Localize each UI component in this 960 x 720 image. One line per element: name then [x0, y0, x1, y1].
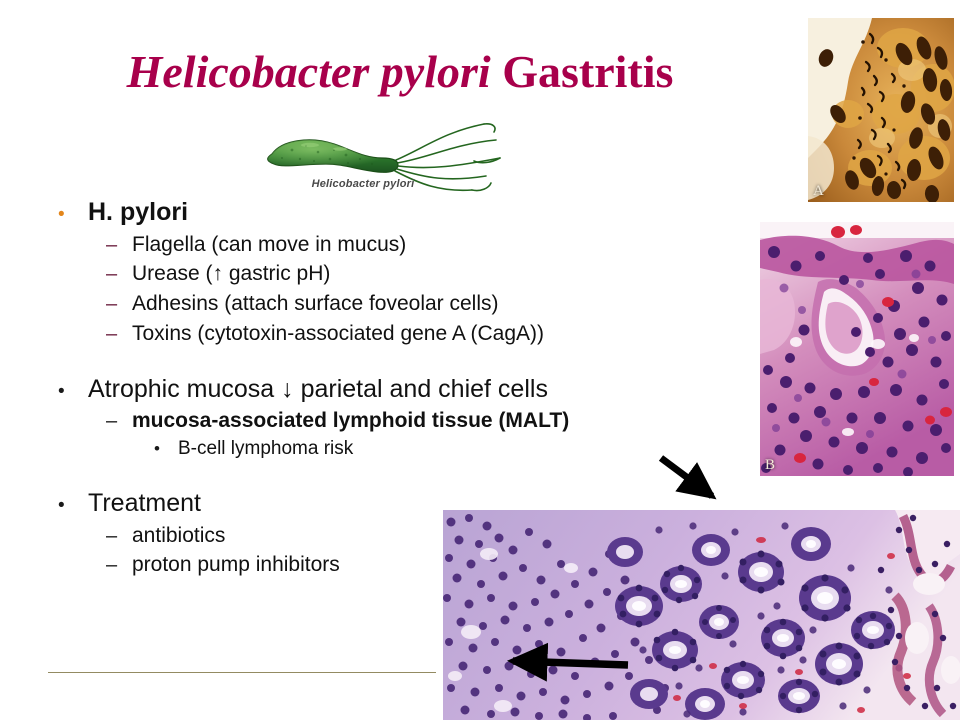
bullet-text: H. pylori	[88, 196, 708, 229]
bullet-marker-dash: –	[106, 231, 132, 259]
title-disease-name: Gastritis	[491, 46, 674, 97]
bullet-flagella: – Flagella (can move in mucus)	[48, 230, 708, 260]
bullet-text: mucosa-associated lymphoid tissue (MALT)	[132, 406, 708, 436]
bullet-text: Atrophic mucosa ↓ parietal and chief cel…	[88, 373, 708, 406]
bullet-marker-dash: –	[106, 290, 132, 318]
page-title: Helicobacter pylori Gastritis	[0, 48, 800, 96]
bullet-marker-dot: •	[58, 380, 88, 405]
histology-image-b: B	[760, 222, 954, 476]
bullet-marker-dot: •	[154, 437, 178, 461]
bullet-marker-dash: –	[106, 522, 132, 550]
bullet-toxins: – Toxins (cytotoxin-associated gene A (C…	[48, 319, 708, 349]
bullet-marker-dash: –	[106, 407, 132, 435]
helicobacter-illustration	[248, 114, 518, 206]
bullet-marker-dot: •	[58, 494, 88, 519]
image-label-b: B	[765, 457, 775, 474]
bullet-text: Flagella (can move in mucus)	[132, 230, 708, 260]
image-label-a: A	[813, 183, 824, 200]
bullet-marker-dot: •	[58, 203, 88, 228]
footer-divider	[48, 672, 436, 673]
spacer	[48, 355, 708, 373]
bullet-text: Adhesins (attach surface foveolar cells)	[132, 289, 708, 319]
bullet-adhesins: – Adhesins (attach surface foveolar cell…	[48, 289, 708, 319]
bullet-urease: – Urease (↑ gastric pH)	[48, 259, 708, 289]
spacer	[48, 469, 708, 487]
bullet-marker-dash: –	[106, 320, 132, 348]
bullet-marker-dash: –	[106, 551, 132, 579]
bullet-text: B-cell lymphoma risk	[178, 436, 708, 463]
bullet-text: Toxins (cytotoxin-associated gene A (Cag…	[132, 319, 708, 349]
title-species-name: Helicobacter pylori	[127, 46, 491, 97]
bullet-atrophic-mucosa: • Atrophic mucosa ↓ parietal and chief c…	[48, 373, 708, 406]
bullet-group-pathogenesis: • H. pylori – Flagella (can move in mucu…	[48, 196, 708, 349]
bullet-text: Urease (↑ gastric pH)	[132, 259, 708, 289]
histology-image-lymphoid-aggregate	[443, 510, 960, 720]
bullet-marker-dash: –	[106, 260, 132, 288]
illustration-caption: Helicobacter pylori	[248, 178, 478, 190]
bullet-b-cell-lymphoma: • B-cell lymphoma risk	[48, 436, 708, 463]
bullet-group-atrophic-mucosa: • Atrophic mucosa ↓ parietal and chief c…	[48, 373, 708, 463]
bullet-malt: – mucosa-associated lymphoid tissue (MAL…	[48, 406, 708, 436]
bullet-h-pylori: • H. pylori	[48, 196, 708, 229]
histology-image-a: A	[808, 18, 954, 202]
